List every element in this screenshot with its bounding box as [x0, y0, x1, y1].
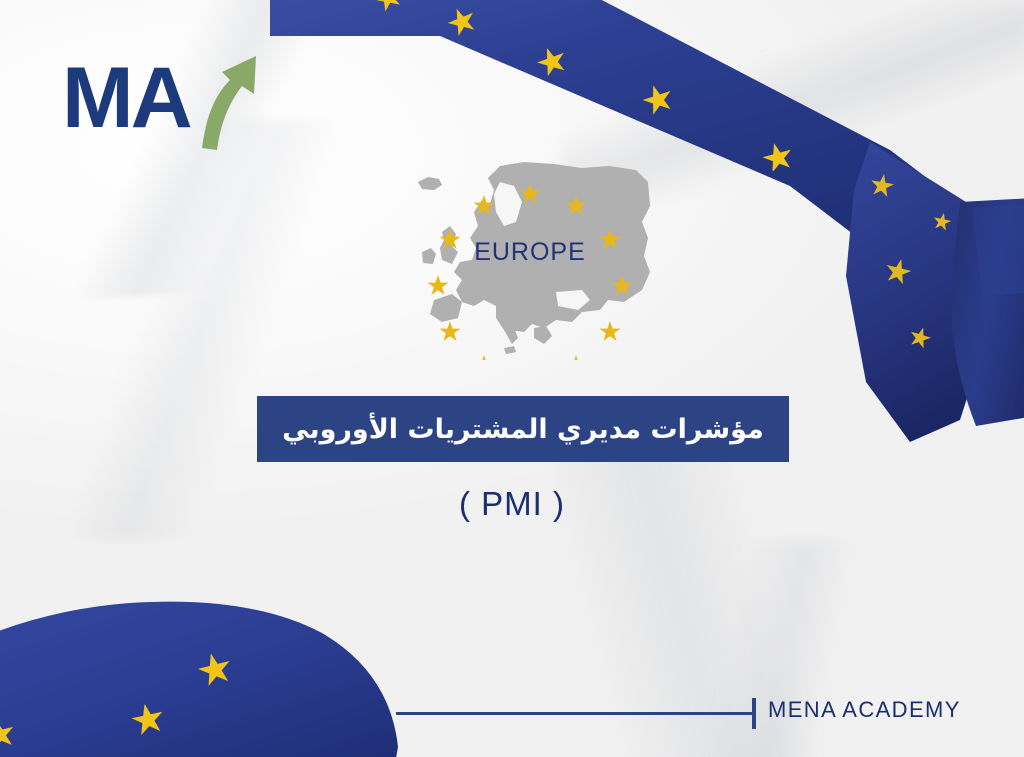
- footer-tick-mark: [752, 698, 756, 729]
- europe-map-block: EUROPE: [404, 160, 656, 360]
- poster-canvas: MA: [0, 0, 1024, 757]
- growth-arrow-icon: [184, 44, 274, 154]
- page-title: مؤشرات مديري المشتريات الأوروبي: [282, 414, 764, 445]
- footer-rule: [396, 712, 754, 715]
- logo: MA: [62, 52, 272, 152]
- map-label: EUROPE: [404, 238, 656, 267]
- logo-wordmark: MA: [62, 52, 190, 144]
- footer: MENA ACADEMY: [0, 690, 1024, 740]
- subtitle: ( PMI ): [0, 485, 1024, 523]
- title-banner: مؤشرات مديري المشتريات الأوروبي: [257, 396, 789, 462]
- footer-brand-name: MENA ACADEMY: [768, 697, 961, 723]
